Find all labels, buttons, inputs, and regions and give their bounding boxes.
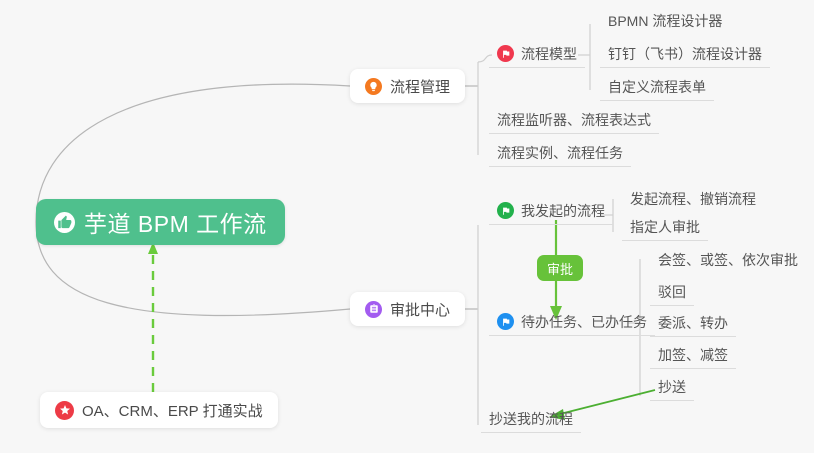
node-cc-my-flows-label: 抄送我的流程 <box>489 409 573 429</box>
node-delegate-transfer-label: 委派、转办 <box>658 313 728 333</box>
annotation-oa-crm-erp-card[interactable]: OA、CRM、ERP 打通实战 <box>40 392 278 428</box>
annotation-approval-pill-label: 审批 <box>547 259 573 278</box>
node-custom-form[interactable]: 自定义流程表单 <box>600 75 714 101</box>
branch-process-management[interactable]: 流程管理 <box>350 69 465 103</box>
node-listener-expression[interactable]: 流程监听器、流程表达式 <box>489 108 659 134</box>
node-my-initiated-flows[interactable]: 我发起的流程 <box>489 199 613 225</box>
node-todo-done-tasks-label: 待办任务、已办任务 <box>521 312 647 332</box>
node-instance-task-label: 流程实例、流程任务 <box>497 143 623 163</box>
node-bpmn-designer-label: BPMN 流程设计器 <box>608 11 722 31</box>
branch-approval-center[interactable]: 审批中心 <box>350 292 465 326</box>
clipboard-icon <box>365 301 382 318</box>
node-start-cancel-flow[interactable]: 发起流程、撤销流程 <box>622 187 764 213</box>
mindmap-canvas: 芋道 BPM 工作流 流程管理 流程模型 BPMN 流程设计器 钉钉（飞书）流程… <box>0 0 814 453</box>
node-countersign-label: 会签、或签、依次审批 <box>658 250 798 270</box>
node-cc[interactable]: 抄送 <box>650 375 694 401</box>
annotation-oa-crm-erp-label: OA、CRM、ERP 打通实战 <box>82 400 263 421</box>
node-reject-label: 驳回 <box>658 282 686 302</box>
flag-icon <box>497 45 514 62</box>
node-dingtalk-designer[interactable]: 钉钉（飞书）流程设计器 <box>600 42 770 68</box>
root-node[interactable]: 芋道 BPM 工作流 <box>36 199 285 245</box>
node-assignee-approval-label: 指定人审批 <box>630 217 700 237</box>
node-add-remove-sign[interactable]: 加签、减签 <box>650 343 736 369</box>
node-add-remove-sign-label: 加签、减签 <box>658 345 728 365</box>
node-dingtalk-designer-label: 钉钉（飞书）流程设计器 <box>608 44 762 64</box>
thumbs-up-icon <box>54 212 75 233</box>
node-reject[interactable]: 驳回 <box>650 280 694 306</box>
flag-icon <box>497 313 514 330</box>
annotation-approval-pill[interactable]: 审批 <box>537 255 583 281</box>
node-cc-label: 抄送 <box>658 377 686 397</box>
node-process-model[interactable]: 流程模型 <box>489 42 585 68</box>
branch-process-management-label: 流程管理 <box>390 76 450 97</box>
star-icon <box>55 401 74 420</box>
node-bpmn-designer[interactable]: BPMN 流程设计器 <box>600 9 730 35</box>
root-label: 芋道 BPM 工作流 <box>84 205 267 239</box>
node-assignee-approval[interactable]: 指定人审批 <box>622 215 708 241</box>
node-custom-form-label: 自定义流程表单 <box>608 77 706 97</box>
node-start-cancel-flow-label: 发起流程、撤销流程 <box>630 189 756 209</box>
node-delegate-transfer[interactable]: 委派、转办 <box>650 311 736 337</box>
node-process-model-label: 流程模型 <box>521 44 577 64</box>
lightbulb-icon <box>365 78 382 95</box>
branch-approval-center-label: 审批中心 <box>390 299 450 320</box>
node-instance-task[interactable]: 流程实例、流程任务 <box>489 141 631 167</box>
arrow-oa-crm-erp-to-root <box>148 242 158 392</box>
node-cc-my-flows[interactable]: 抄送我的流程 <box>481 407 581 433</box>
node-countersign[interactable]: 会签、或签、依次审批 <box>650 248 806 274</box>
node-listener-expression-label: 流程监听器、流程表达式 <box>497 110 651 130</box>
node-my-initiated-flows-label: 我发起的流程 <box>521 201 605 221</box>
flag-icon <box>497 202 514 219</box>
node-todo-done-tasks[interactable]: 待办任务、已办任务 <box>489 310 655 336</box>
